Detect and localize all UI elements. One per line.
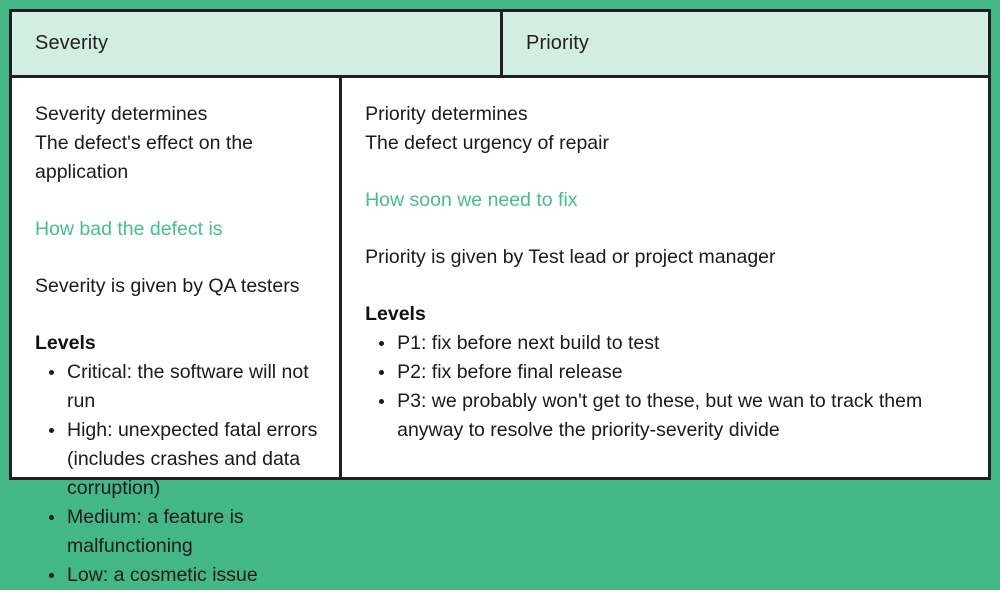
priority-given-by-text: Priority is given by Test lead or projec… <box>365 243 970 272</box>
severity-given-by-text: Severity is given by QA testers <box>35 272 321 301</box>
table-body-row: Severity determines The defect's effect … <box>12 78 988 477</box>
spacer <box>365 158 970 186</box>
spacer <box>35 301 321 329</box>
list-item: High: unexpected fatal errors (includes … <box>35 416 321 503</box>
list-item: Medium: a feature is malfunctioning <box>35 503 321 561</box>
severity-priority-comparison-table: Severity Priority Severity determines Th… <box>9 9 991 480</box>
severity-levels-list: Critical: the software will not run High… <box>35 358 321 590</box>
priority-levels-list: P1: fix before next build to test P2: fi… <box>365 329 970 445</box>
list-item: P3: we probably won't get to these, but … <box>365 387 970 445</box>
list-item: Low: a cosmetic issue <box>35 561 321 590</box>
severity-cell: Severity determines The defect's effect … <box>12 78 342 477</box>
list-item: P2: fix before final release <box>365 358 970 387</box>
list-item: Critical: the software will not run <box>35 358 321 416</box>
priority-levels-heading: Levels <box>365 300 970 329</box>
severity-levels-heading: Levels <box>35 329 321 358</box>
severity-determines-text: Severity determines The defect's effect … <box>35 100 321 187</box>
table-header-row: Severity Priority <box>12 12 988 78</box>
priority-determines-text: Priority determines The defect urgency o… <box>365 100 970 158</box>
list-item: P1: fix before next build to test <box>365 329 970 358</box>
spacer <box>35 187 321 215</box>
priority-accent-line: How soon we need to fix <box>365 186 970 215</box>
spacer <box>365 272 970 300</box>
column-header-severity: Severity <box>12 12 503 75</box>
spacer <box>35 244 321 272</box>
spacer <box>365 215 970 243</box>
severity-accent-line: How bad the defect is <box>35 215 321 244</box>
priority-cell: Priority determines The defect urgency o… <box>342 78 988 477</box>
column-header-priority: Priority <box>503 12 988 75</box>
